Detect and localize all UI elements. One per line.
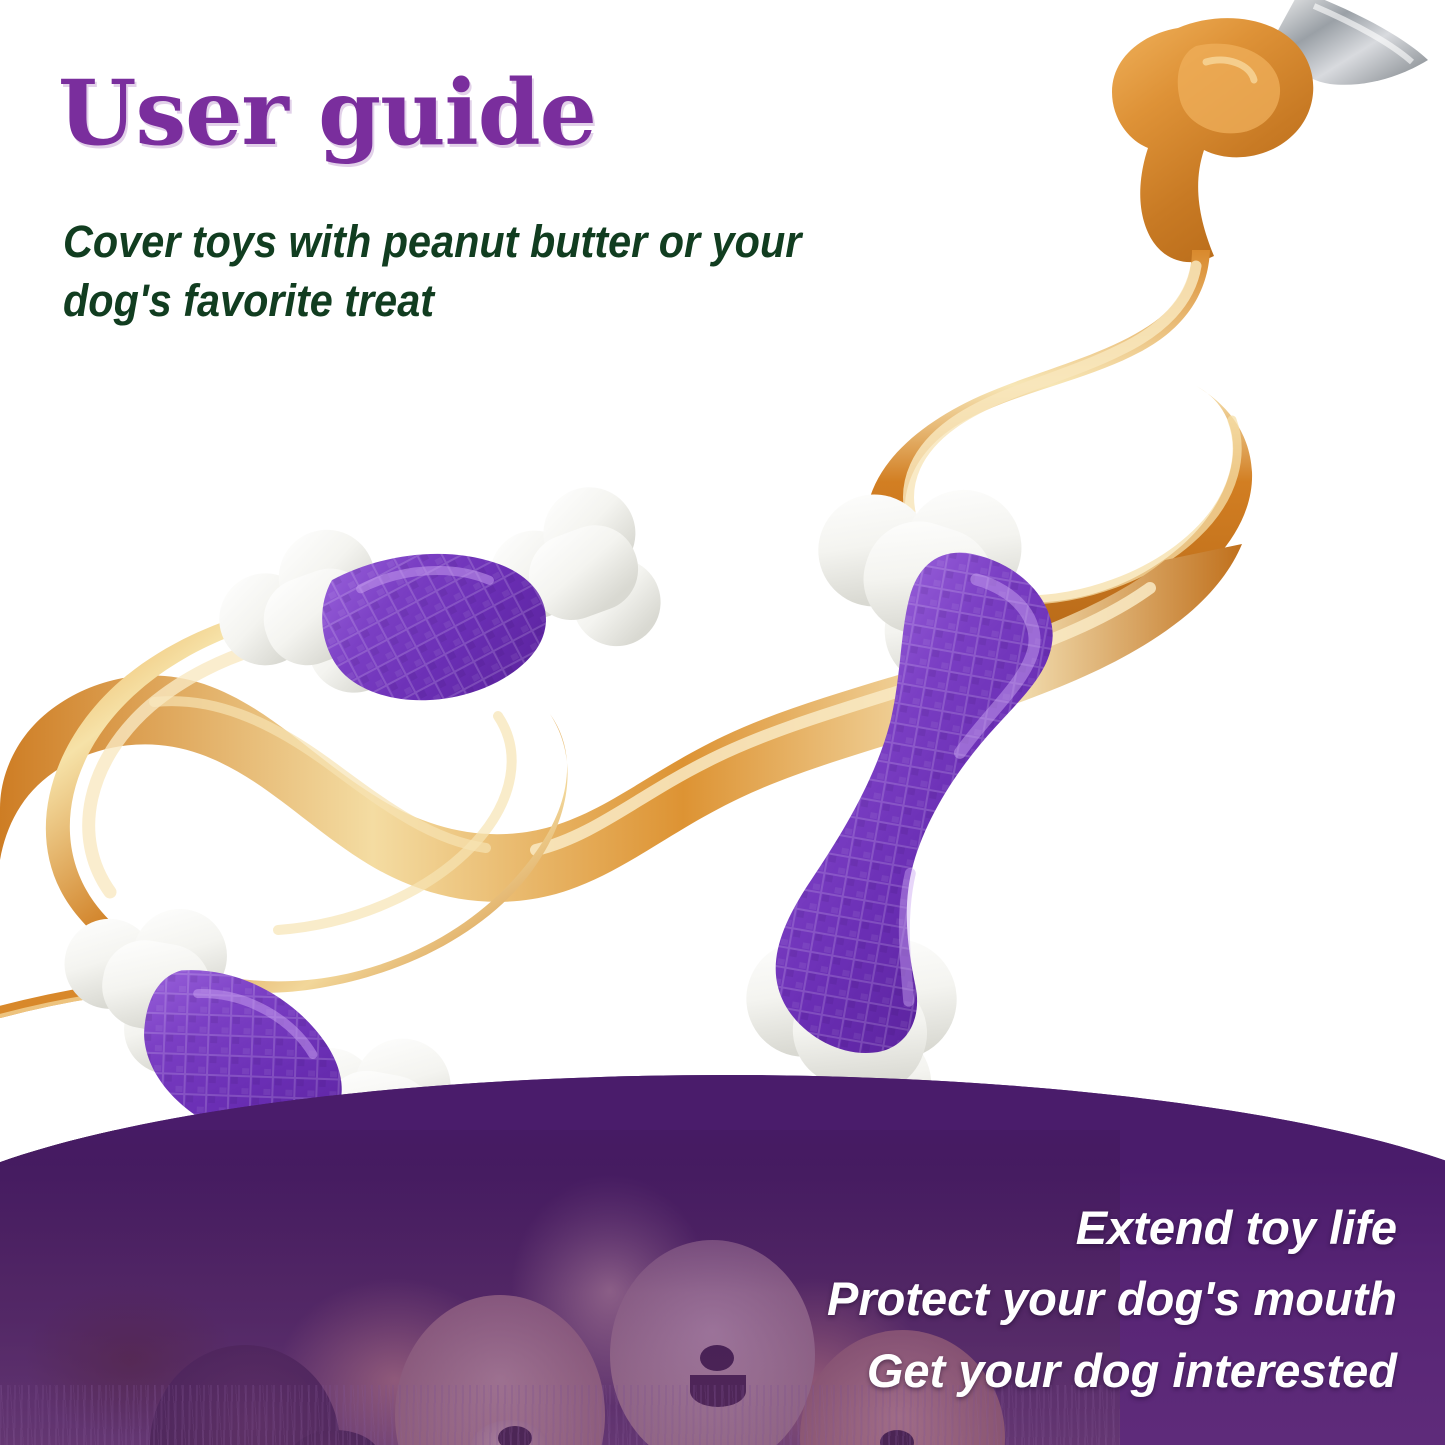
- benefits-list: Extend toy life Protect your dog's mouth…: [827, 1192, 1397, 1406]
- benefit-item: Extend toy life: [827, 1192, 1397, 1263]
- benefit-item: Get your dog interested: [827, 1335, 1397, 1406]
- benefit-item: Protect your dog's mouth: [827, 1263, 1397, 1334]
- page-subtitle: Cover toys with peanut butter or your do…: [63, 212, 827, 331]
- product-infographic: User guide Cover toys with peanut butter…: [0, 0, 1445, 1445]
- page-title: User guide: [58, 68, 596, 158]
